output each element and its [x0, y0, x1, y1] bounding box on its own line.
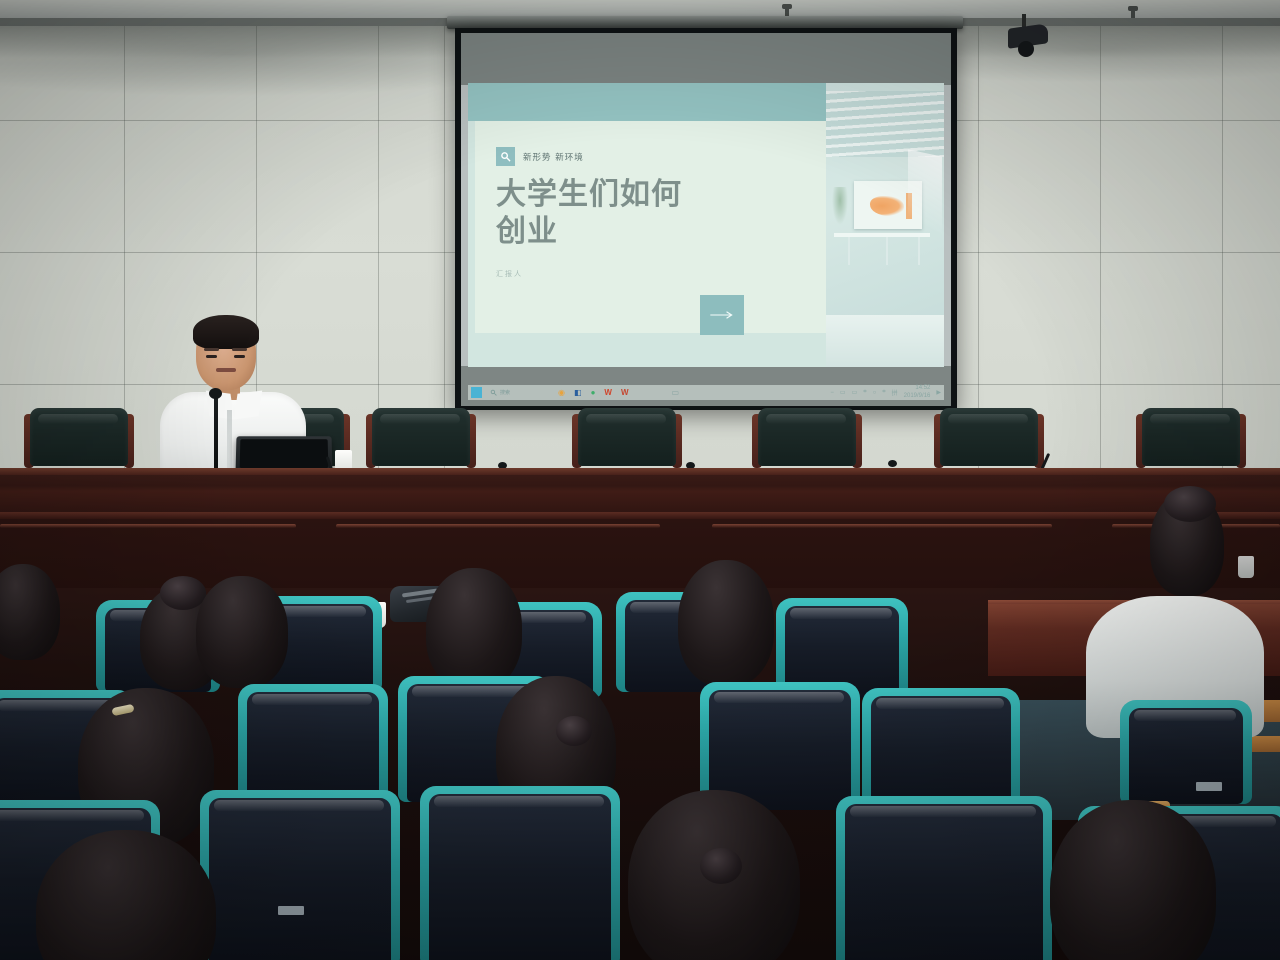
- auditorium-seat: [836, 796, 1052, 960]
- seat-number-tag: [278, 906, 304, 915]
- taskbar-system-tray[interactable]: − ▭ ▭ ⌗ ○ ⌗ 拼 14:52 2019/9/16 ▶: [830, 385, 941, 400]
- slide-kicker-text: 新形势 新环境: [523, 151, 584, 163]
- sprinkler-icon: [782, 4, 792, 9]
- wall-seam: [444, 26, 445, 470]
- wps-presentation-icon[interactable]: W: [621, 389, 629, 397]
- projection-screen: 新形势 新环境 大学生们如何 创业 汇报人: [455, 28, 957, 410]
- network-icon[interactable]: ⌗: [863, 389, 866, 396]
- wps-writer-icon[interactable]: W: [604, 389, 612, 397]
- auditorium-seat: [238, 684, 388, 806]
- auditorium-seat: [1120, 700, 1252, 804]
- executive-chair: [934, 408, 1044, 470]
- auditorium-seat: [420, 786, 620, 960]
- ime-icon[interactable]: 拼: [892, 388, 898, 397]
- wall-seam: [378, 26, 379, 470]
- clock-date: 2019/9/16: [904, 393, 931, 401]
- file-explorer-icon[interactable]: ◧: [574, 389, 582, 397]
- taskbar-clock[interactable]: 14:52 2019/9/16: [904, 385, 931, 400]
- executive-chair: [572, 408, 682, 470]
- auditorium-seat: [200, 790, 400, 960]
- wechat-icon[interactable]: ●: [591, 389, 596, 397]
- window-icon[interactable]: ▭: [672, 389, 680, 397]
- executive-chair: [1136, 408, 1246, 470]
- taskbar-search-placeholder: 搜索: [500, 389, 510, 396]
- search-icon: [490, 389, 497, 396]
- clock-time: 14:52: [904, 385, 931, 393]
- slide-title-line-1: 大学生们如何: [496, 177, 796, 214]
- desktop-background-top: [461, 33, 951, 85]
- windows-start-icon[interactable]: [471, 387, 482, 398]
- search-icon: [496, 147, 515, 166]
- monitor-icon[interactable]: ▭: [840, 389, 846, 396]
- slide-accent-band: [468, 83, 828, 121]
- microphone-head: [209, 388, 222, 399]
- slide-interior-render: [826, 83, 944, 367]
- presentation-slide: 新形势 新环境 大学生们如何 创业 汇报人: [468, 83, 944, 367]
- browser-icon[interactable]: ◉: [558, 389, 565, 397]
- sprinkler-icon: [1128, 6, 1138, 11]
- slide-title-line-2: 创业: [496, 214, 796, 251]
- taskbar-app-icons[interactable]: ◉ ◧ ● W W ▭: [558, 389, 679, 397]
- slide-subtitle: 汇报人: [496, 269, 523, 279]
- executive-chair: [752, 408, 862, 470]
- seat-number-tag: [1196, 782, 1222, 791]
- wall-seam: [978, 26, 979, 470]
- taskbar-search-box[interactable]: 搜索: [490, 389, 510, 396]
- executive-chair: [24, 408, 134, 470]
- battery-icon[interactable]: ⌗: [882, 389, 885, 396]
- windows-taskbar[interactable]: 搜索 ◉ ◧ ● W W ▭ − ▭ ▭ ⌗ ○ ⌗ 拼: [468, 385, 944, 400]
- slide-title: 大学生们如何 创业: [496, 177, 796, 250]
- gooseneck-microphone-icon: [214, 392, 218, 470]
- lecture-hall-photo: 新形势 新环境 大学生们如何 创业 汇报人: [0, 0, 1280, 960]
- wall-seam: [1100, 26, 1101, 470]
- laptop-icon: [236, 436, 333, 472]
- minimize-icon[interactable]: −: [830, 390, 834, 396]
- volume-icon[interactable]: ○: [873, 390, 877, 396]
- wall-seam: [124, 26, 125, 470]
- water-glass-icon: [1238, 556, 1254, 578]
- table-microphone: [888, 460, 897, 467]
- chevron-up-icon[interactable]: ▶: [936, 389, 941, 396]
- wall-seam: [1222, 26, 1223, 470]
- executive-chair: [366, 408, 476, 470]
- slide-kicker: 新形势 新环境: [496, 147, 584, 166]
- display-icon[interactable]: ▭: [852, 389, 858, 396]
- arrow-right-icon: [700, 295, 744, 335]
